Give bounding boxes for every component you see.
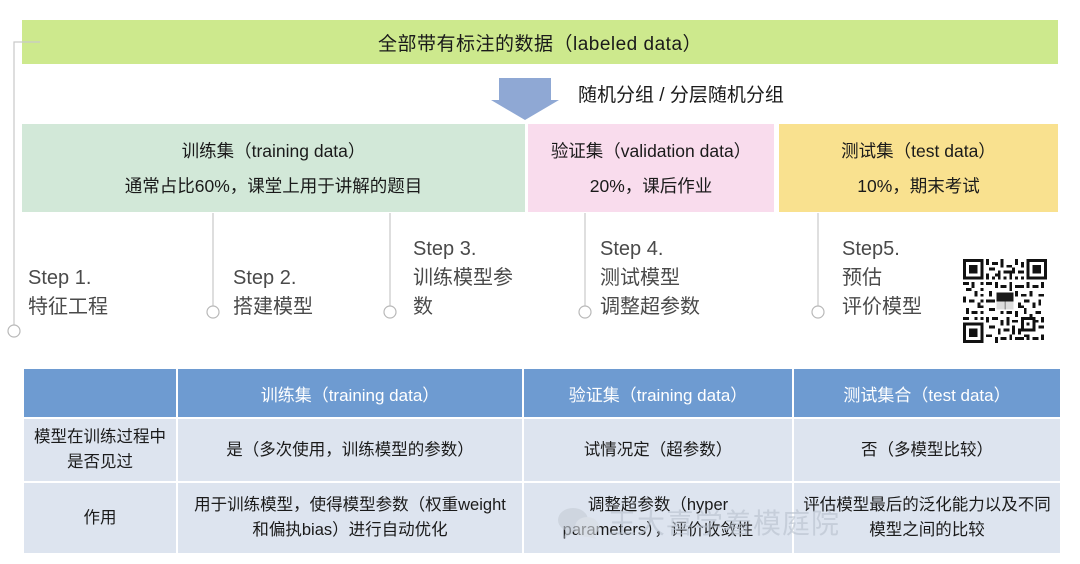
cell-seen-test: 否（多模型比较）: [794, 419, 1060, 481]
split-method-label: 随机分组 / 分层随机分组: [578, 80, 784, 107]
dataset-title-test: 测试集（test data）: [841, 138, 996, 163]
table-row: 模型在训练过程中是否见过 是（多次使用，训练模型的参数） 试情况定（超参数） 否…: [24, 419, 1060, 481]
step-4-label: Step 4. 测试模型 调整超参数: [600, 235, 770, 322]
dataset-box-training: 训练集（training data） 通常占比60%，课堂上用于讲解的题目: [22, 124, 525, 212]
cell-purpose-test: 评估模型最后的泛化能力以及不同模型之间的比较: [794, 483, 1060, 553]
labeled-data-label: 全部带有标注的数据（labeled data）: [378, 29, 702, 56]
qr-code-icon[interactable]: [963, 257, 1047, 345]
table-row: 作用 用于训练模型，使得模型参数（权重weight和偏执bias）进行自动优化 …: [24, 483, 1060, 553]
step-4-line-2: 调整超参数: [600, 293, 770, 322]
table-header-row: 训练集（training data） 验证集（training data） 测试…: [24, 369, 1060, 417]
step-5-line-2: 评价模型: [842, 293, 962, 322]
dataset-title-training: 训练集（training data）: [182, 138, 366, 163]
step-4-number: Step 4.: [600, 235, 770, 264]
dataset-sub-validation: 20%，课后作业: [590, 173, 713, 198]
diagram-canvas: 全部带有标注的数据（labeled data） 随机分组 / 分层随机分组 训练…: [0, 0, 1080, 564]
step-2-number: Step 2.: [233, 264, 383, 293]
dataset-sub-test: 10%，期末考试: [857, 173, 980, 198]
cell-seen-training: 是（多次使用，训练模型的参数）: [178, 419, 522, 481]
cell-seen-validation: 试情况定（超参数）: [524, 419, 792, 481]
cell-purpose-training: 用于训练模型，使得模型参数（权重weight和偏执bias）进行自动优化: [178, 483, 522, 553]
step-2-label: Step 2. 搭建模型: [233, 264, 383, 322]
step-3-number: Step 3.: [413, 235, 533, 264]
step-1-number: Step 1.: [28, 264, 178, 293]
step-4-line-1: 测试模型: [600, 264, 770, 293]
labeled-data-bar: 全部带有标注的数据（labeled data）: [22, 20, 1058, 64]
table-header-test: 测试集合（test data）: [794, 369, 1060, 417]
table-header-blank: [24, 369, 176, 417]
step-3-line-2: 数: [413, 293, 533, 322]
step-2-line-1: 搭建模型: [233, 293, 383, 322]
step-5-line-1: 预估: [842, 264, 962, 293]
step-3-line-1: 训练模型参: [413, 264, 533, 293]
cell-purpose-validation: 调整超参数（hyper parameters），评价收敛性: [524, 483, 792, 553]
table-header-validation: 验证集（training data）: [524, 369, 792, 417]
dataset-box-test: 测试集（test data） 10%，期末考试: [779, 124, 1058, 212]
row-label-seen-during-training: 模型在训练过程中是否见过: [24, 419, 176, 481]
step-5-number: Step5.: [842, 235, 962, 264]
step-1-line-1: 特征工程: [28, 293, 178, 322]
step-5-label: Step5. 预估 评价模型: [842, 235, 962, 322]
step-1-label: Step 1. 特征工程: [28, 264, 178, 322]
dataset-box-validation: 验证集（validation data） 20%，课后作业: [528, 124, 774, 212]
step-3-label: Step 3. 训练模型参 数: [413, 235, 533, 322]
comparison-table: 训练集（training data） 验证集（training data） 测试…: [22, 367, 1062, 555]
dataset-sub-training: 通常占比60%，课堂上用于讲解的题目: [125, 173, 423, 198]
down-arrow-icon: [483, 76, 567, 120]
table-header-training: 训练集（training data）: [178, 369, 522, 417]
dataset-title-validation: 验证集（validation data）: [551, 138, 751, 163]
row-label-purpose: 作用: [24, 483, 176, 553]
